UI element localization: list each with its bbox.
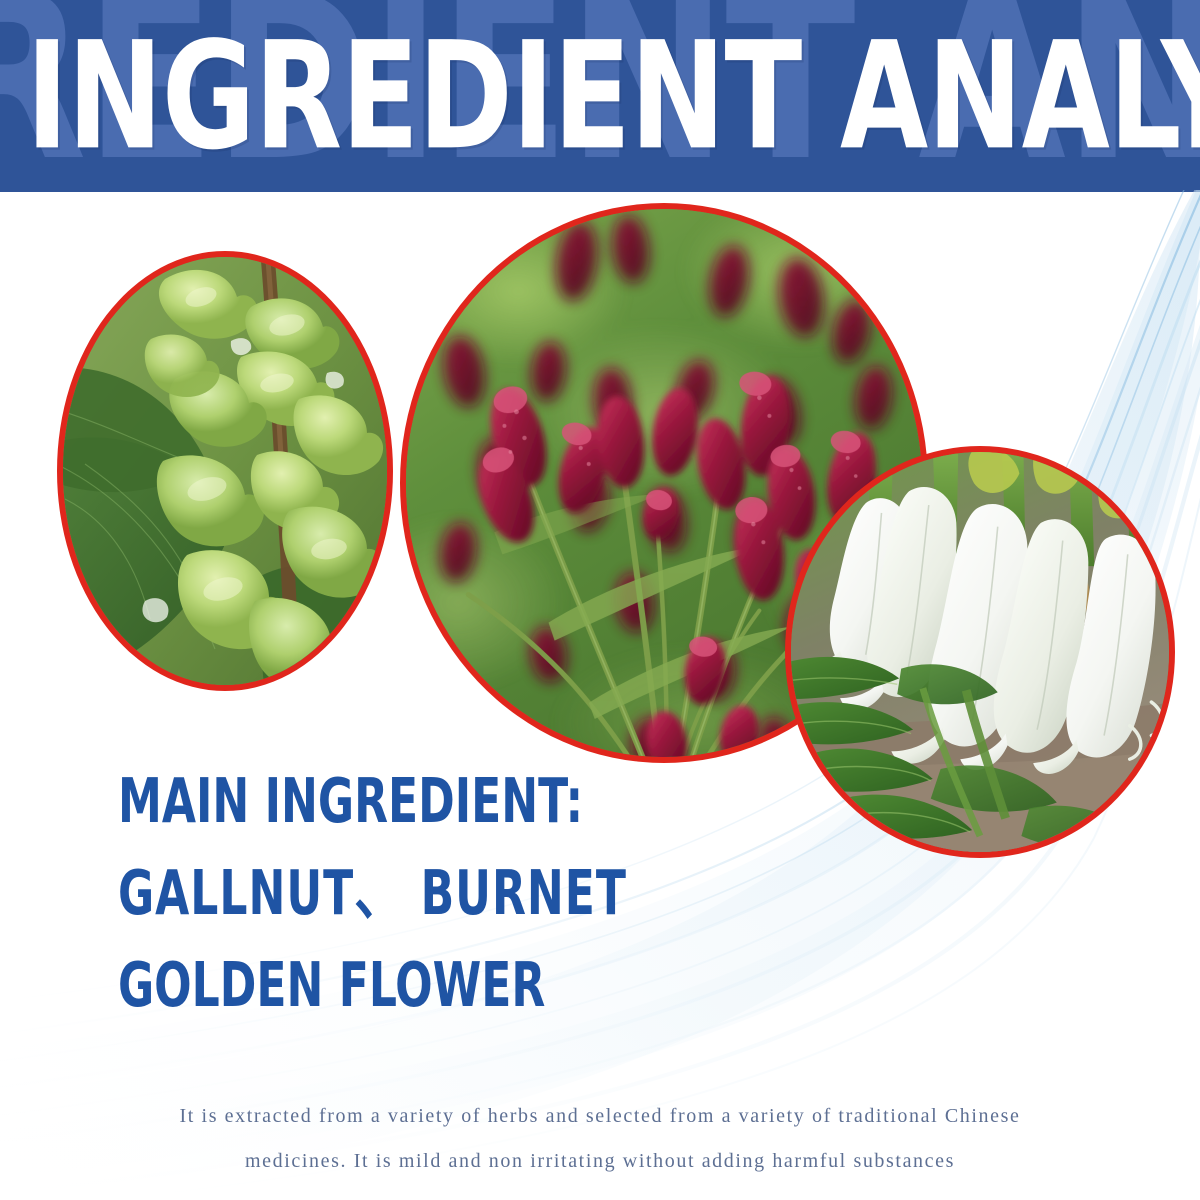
photo-circle-golden-flower bbox=[785, 446, 1175, 858]
photo-circle-gallnut bbox=[57, 251, 393, 691]
description-caption: It is extracted from a variety of herbs … bbox=[0, 1094, 1200, 1184]
golden-flower-image bbox=[785, 446, 1175, 858]
header-banner: REDIENT ANALY INGREDIENT ANALYSIS bbox=[0, 0, 1200, 192]
main-ingredient-line-3: GOLDEN FLOWER bbox=[118, 929, 627, 1044]
caption-line-2: medicines. It is mild and non irritating… bbox=[0, 1139, 1200, 1184]
caption-line-1: It is extracted from a variety of herbs … bbox=[0, 1094, 1200, 1139]
gallnut-image bbox=[57, 251, 393, 691]
main-ingredient-text-block: MAIN INGREDIENT: GALLNUT、 BURNET GOLDEN … bbox=[118, 756, 627, 1032]
ingredient-analysis-poster: REDIENT ANALY INGREDIENT ANALYSIS bbox=[0, 0, 1200, 1200]
page-title: INGREDIENT ANALYSIS bbox=[26, 29, 1174, 166]
